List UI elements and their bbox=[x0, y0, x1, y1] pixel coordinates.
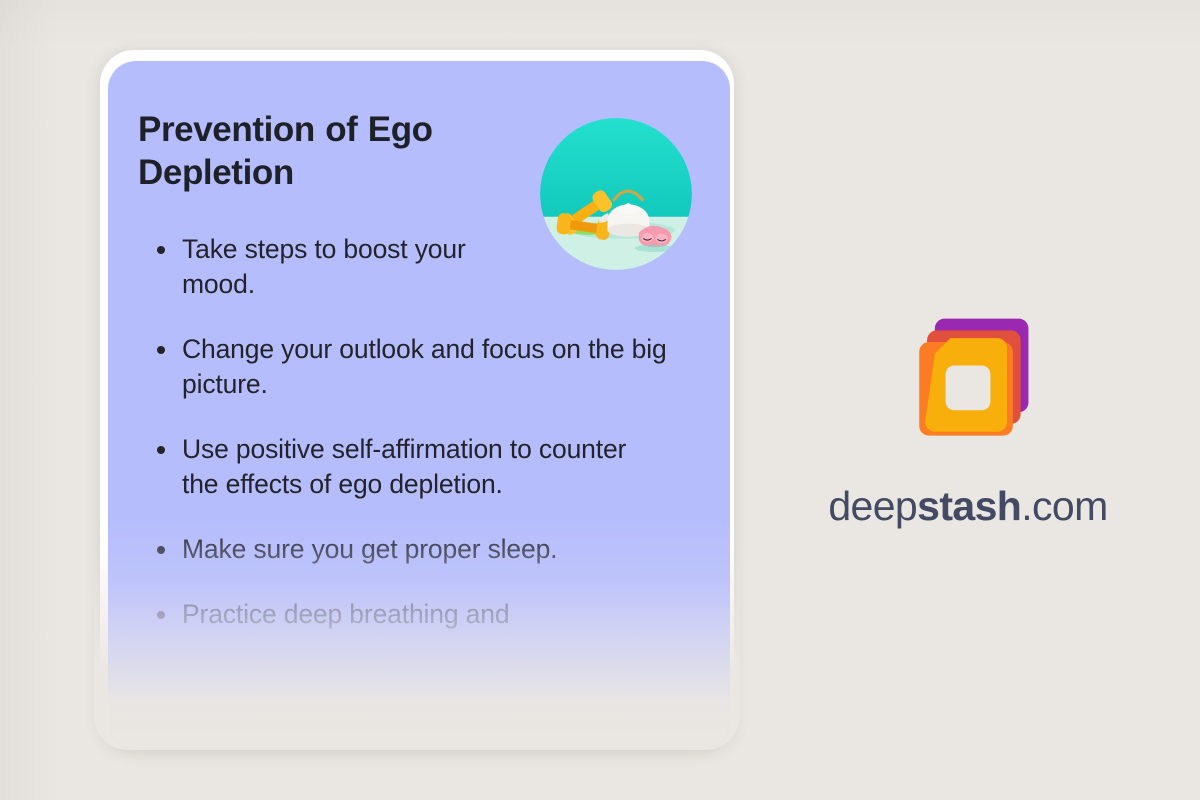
list-item: Practice deep breathing and bbox=[138, 597, 722, 632]
list-item: Take steps to boost your mood. bbox=[138, 232, 512, 302]
brand-wordmark: deepstash.com bbox=[808, 483, 1128, 530]
page-title: Prevention of Ego Depletion bbox=[138, 109, 528, 194]
list-item: Use positive self-affirmation to counter… bbox=[138, 432, 662, 502]
deepstash-stacked-cards-logo bbox=[890, 305, 1046, 461]
wordmark-stash: stash bbox=[917, 483, 1021, 529]
stash-card[interactable]: Prevention of Ego Depletion Take steps t… bbox=[100, 50, 738, 750]
list-item: Make sure you get proper sleep. bbox=[138, 532, 722, 567]
idea-bullet-list: Take steps to boost your mood. Change yo… bbox=[138, 232, 696, 632]
brand-block: deepstash.com bbox=[808, 305, 1128, 530]
wordmark-deep: deep bbox=[828, 483, 917, 529]
card-body: Prevention of Ego Depletion Take steps t… bbox=[108, 61, 730, 750]
wordmark-tld: .com bbox=[1021, 483, 1107, 529]
wellness-photo bbox=[540, 118, 692, 270]
list-item: Change your outlook and focus on the big… bbox=[138, 332, 722, 402]
